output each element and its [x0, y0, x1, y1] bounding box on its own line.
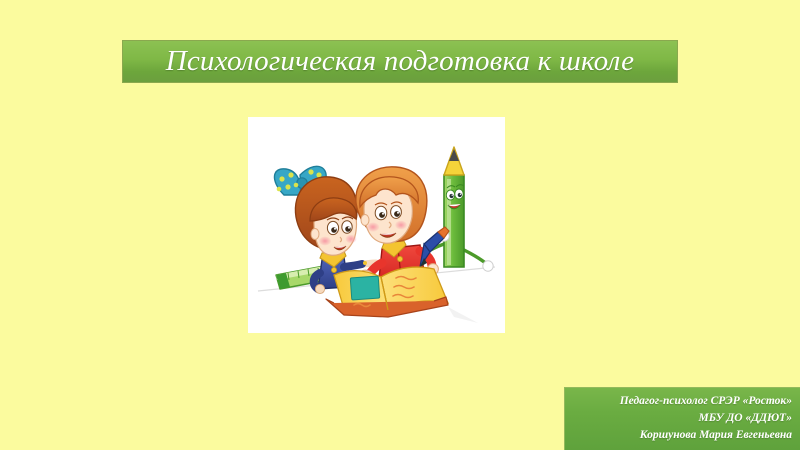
author-credit-block: Педагог-психолог СРЭР «Росток» МБУ ДО «Д…: [564, 387, 800, 450]
slide-picture: [248, 117, 505, 333]
slide-title-banner: Психологическая подготовка к школе: [122, 40, 678, 83]
children-reading-book-illustration: [248, 117, 505, 333]
slide-title-text: Психологическая подготовка к школе: [166, 47, 635, 76]
credit-line-institution: МБУ ДО «ДДЮТ»: [565, 410, 792, 427]
presentation-slide: Психологическая подготовка к школе: [0, 0, 800, 450]
credit-line-author-name: Коршунова Мария Евгеньевна: [565, 427, 792, 444]
credit-line-organization: Педагог-психолог СРЭР «Росток»: [565, 393, 792, 410]
